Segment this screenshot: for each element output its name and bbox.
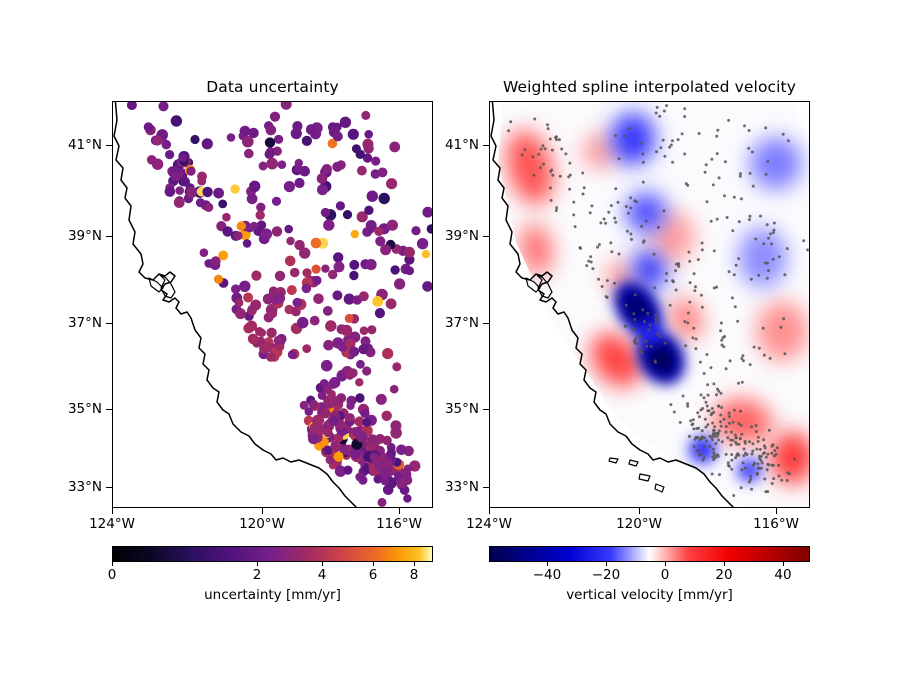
cbar-label-left-4: 4 — [302, 567, 342, 583]
tickmark-left-41n — [106, 145, 112, 146]
cbar-label-left-8: 8 — [394, 567, 434, 583]
tickmark-right-124w — [489, 508, 490, 514]
ytick-label-right-41n: 41°N — [417, 137, 479, 153]
cbar-tickmark-right-20 — [724, 562, 725, 566]
cbar-label-left-0: 0 — [92, 567, 132, 583]
cbar-label-left-6: 6 — [353, 567, 393, 583]
velocity-colorbar — [489, 546, 810, 562]
tickmark-right-120w — [639, 508, 640, 514]
left-map-axes — [112, 101, 433, 508]
cbar-label-right-20: 20 — [694, 567, 754, 583]
left-panel-title: Data uncertainty — [112, 78, 433, 96]
tickmark-left-120w — [262, 508, 263, 514]
uncertainty-scatter-layer — [113, 102, 432, 507]
tickmark-left-35n — [106, 409, 112, 410]
cbar-tickmark-right-0 — [665, 562, 666, 566]
tickmark-left-37n — [106, 323, 112, 324]
cbar-label-left-2: 2 — [237, 567, 277, 583]
xtick-label-left-124w: 124°W — [72, 516, 152, 532]
right-panel-title: Weighted spline interpolated velocity — [489, 78, 810, 96]
ytick-label-right-35n: 35°N — [417, 401, 479, 417]
cbar-tickmark-right-m40 — [547, 562, 548, 566]
tickmark-right-116w — [776, 508, 777, 514]
ytick-label-right-37n: 37°N — [417, 315, 479, 331]
tickmark-right-39n — [483, 236, 489, 237]
velocity-field-canvas — [490, 102, 809, 507]
ytick-label-37n: 37°N — [40, 315, 102, 331]
tickmark-left-116w — [399, 508, 400, 514]
velocity-colorbar-label: vertical velocity [mm/yr] — [489, 587, 810, 603]
figure-canvas: Data uncertainty 41°N 39°N 37°N 35°N 33°… — [0, 0, 900, 700]
tickmark-left-33n — [106, 487, 112, 488]
tickmark-right-35n — [483, 409, 489, 410]
xtick-label-left-116w: 116°W — [359, 516, 439, 532]
cbar-tickmark-left-8 — [414, 562, 415, 566]
ytick-label-35n: 35°N — [40, 401, 102, 417]
cbar-label-right-m20: −20 — [576, 567, 636, 583]
cbar-tickmark-left-0 — [112, 562, 113, 566]
cbar-tickmark-right-40 — [783, 562, 784, 566]
cbar-tickmark-left-6 — [373, 562, 374, 566]
ytick-label-right-39n: 39°N — [417, 228, 479, 244]
xtick-label-right-116w: 116°W — [736, 516, 816, 532]
uncertainty-colorbar — [112, 546, 433, 562]
xtick-label-left-120w: 120°W — [222, 516, 302, 532]
tickmark-right-33n — [483, 487, 489, 488]
cbar-tickmark-right-m20 — [606, 562, 607, 566]
cbar-tickmark-left-2 — [257, 562, 258, 566]
cbar-label-right-0: 0 — [635, 567, 695, 583]
ytick-label-33n: 33°N — [40, 479, 102, 495]
cbar-label-right-40: 40 — [753, 567, 813, 583]
tickmark-left-39n — [106, 236, 112, 237]
tickmark-left-124w — [112, 508, 113, 514]
cbar-label-right-m40: −40 — [517, 567, 577, 583]
tickmark-right-41n — [483, 145, 489, 146]
right-map-axes — [489, 101, 810, 508]
tickmark-right-37n — [483, 323, 489, 324]
uncertainty-colorbar-label: uncertainty [mm/yr] — [112, 587, 433, 603]
ytick-label-39n: 39°N — [40, 228, 102, 244]
ytick-label-41n: 41°N — [40, 137, 102, 153]
cbar-tickmark-left-4 — [322, 562, 323, 566]
xtick-label-right-124w: 124°W — [449, 516, 529, 532]
xtick-label-right-120w: 120°W — [599, 516, 679, 532]
ytick-label-right-33n: 33°N — [417, 479, 479, 495]
